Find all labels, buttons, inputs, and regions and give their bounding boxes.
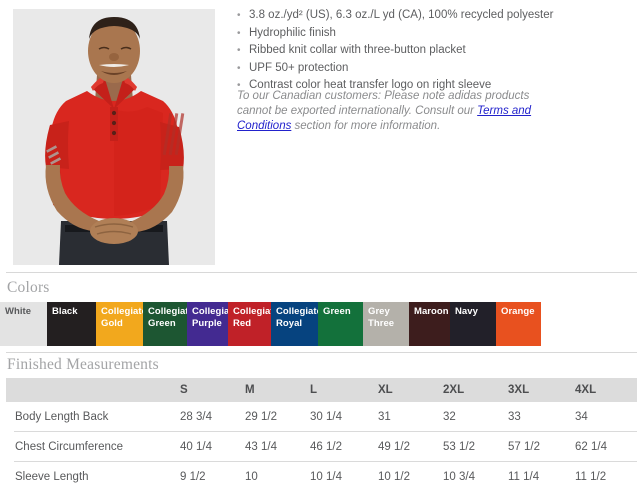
column-header-l: L (310, 378, 317, 402)
cell-value: 34 (575, 402, 588, 432)
list-item: • 3.8 oz./yd² (US), 6.3 oz./L yd (CA), 1… (237, 8, 637, 23)
color-swatch-orange[interactable]: Orange (496, 302, 541, 346)
column-header-s: S (180, 378, 188, 402)
cell-value: 46 1/2 (310, 432, 342, 462)
cell-value: 29 1/2 (245, 402, 277, 432)
section-divider (6, 272, 637, 273)
product-photo-image (13, 9, 215, 265)
cell-value: 11 1/2 (575, 462, 606, 492)
color-swatch-grey-three[interactable]: Grey Three (363, 302, 409, 346)
measurements-table: S M L XL 2XL 3XL 4XL Body Length Back 28… (6, 378, 637, 492)
column-header-m: M (245, 378, 255, 402)
section-divider (6, 352, 637, 353)
swatch-label: Maroon (414, 306, 448, 318)
table-row: Sleeve Length 9 1/2 10 10 1/4 10 1/2 10 … (6, 462, 637, 492)
feature-text: Ribbed knit collar with three-button pla… (249, 43, 466, 58)
swatch-label: Collegiate Red (233, 306, 269, 329)
cell-value: 62 1/4 (575, 432, 607, 462)
column-header-4xl: 4XL (575, 378, 596, 402)
cell-value: 33 (508, 402, 521, 432)
color-swatch-maroon[interactable]: Maroon (409, 302, 450, 346)
swatch-label: Collegiate Purple (192, 306, 226, 329)
color-swatch-white[interactable]: White (0, 302, 47, 346)
list-item: • Hydrophilic finish (237, 26, 637, 41)
cell-value: 57 1/2 (508, 432, 540, 462)
table-row: Chest Circumference 40 1/4 43 1/4 46 1/2… (6, 432, 637, 462)
cell-value: 10 1/4 (310, 462, 342, 492)
cell-value: 9 1/2 (180, 462, 206, 492)
bullet-icon: • (237, 8, 249, 23)
swatch-label: Green (323, 306, 361, 318)
product-features-list: • 3.8 oz./yd² (US), 6.3 oz./L yd (CA), 1… (237, 8, 637, 96)
table-row: Body Length Back 28 3/4 29 1/2 30 1/4 31… (6, 402, 637, 432)
cell-value: 43 1/4 (245, 432, 277, 462)
cell-value: 32 (443, 402, 456, 432)
measurements-heading: Finished Measurements (7, 356, 159, 374)
row-label: Chest Circumference (15, 432, 123, 462)
cell-value: 31 (378, 402, 391, 432)
column-header-xl: XL (378, 378, 393, 402)
list-item: • UPF 50+ protection (237, 61, 637, 76)
color-swatch-collegiate-purple[interactable]: Collegiate Purple (187, 302, 228, 346)
list-item: • Ribbed knit collar with three-button p… (237, 43, 637, 58)
swatch-label: Collegiate Gold (101, 306, 141, 329)
row-label: Body Length Back (15, 402, 108, 432)
swatch-label: Navy (455, 306, 494, 318)
column-header-2xl: 2XL (443, 378, 464, 402)
cell-value: 10 (245, 462, 258, 492)
cell-value: 49 1/2 (378, 432, 410, 462)
finished-measurements-section: Finished Measurements S M L XL 2XL 3XL 4… (0, 352, 643, 492)
feature-text: UPF 50+ protection (249, 61, 348, 76)
swatch-label: Collegiate Royal (276, 306, 316, 329)
colors-section: Colors White Black Collegiate Gold Colle… (0, 272, 643, 356)
swatch-label: Orange (501, 306, 539, 318)
cell-value: 40 1/4 (180, 432, 212, 462)
color-swatch-navy[interactable]: Navy (450, 302, 496, 346)
bullet-icon: • (237, 26, 249, 41)
bullet-icon: • (237, 61, 249, 76)
color-swatch-collegiate-gold[interactable]: Collegiate Gold (96, 302, 143, 346)
color-swatch-collegiate-royal[interactable]: Collegiate Royal (271, 302, 318, 346)
colors-heading: Colors (7, 279, 50, 297)
swatch-label: White (5, 306, 45, 318)
color-swatch-black[interactable]: Black (47, 302, 96, 346)
color-swatch-green[interactable]: Green (318, 302, 363, 346)
cell-value: 10 1/2 (378, 462, 410, 492)
cell-value: 53 1/2 (443, 432, 475, 462)
color-swatch-collegiate-green[interactable]: Collegiate Green (143, 302, 187, 346)
table-header-row: S M L XL 2XL 3XL 4XL (6, 378, 637, 402)
canada-export-notice: To our Canadian customers: Please note a… (237, 89, 567, 134)
cell-value: 30 1/4 (310, 402, 342, 432)
cell-value: 28 3/4 (180, 402, 212, 432)
feature-text: Hydrophilic finish (249, 26, 336, 41)
notice-text-after: section for more information. (291, 120, 440, 132)
swatch-label: Grey Three (368, 306, 407, 329)
swatch-label: Black (52, 306, 94, 318)
cell-value: 10 3/4 (443, 462, 475, 492)
row-label: Sleeve Length (15, 462, 89, 492)
feature-text: 3.8 oz./yd² (US), 6.3 oz./L yd (CA), 100… (249, 8, 553, 23)
product-overview-section: • 3.8 oz./yd² (US), 6.3 oz./L yd (CA), 1… (0, 0, 643, 272)
product-photo[interactable] (13, 9, 215, 265)
column-header-3xl: 3XL (508, 378, 529, 402)
cell-value: 11 1/4 (508, 462, 539, 492)
bullet-icon: • (237, 43, 249, 58)
color-swatch-collegiate-red[interactable]: Collegiate Red (228, 302, 271, 346)
color-swatch-strip: White Black Collegiate Gold Collegiate G… (0, 302, 643, 346)
swatch-label: Collegiate Green (148, 306, 185, 329)
